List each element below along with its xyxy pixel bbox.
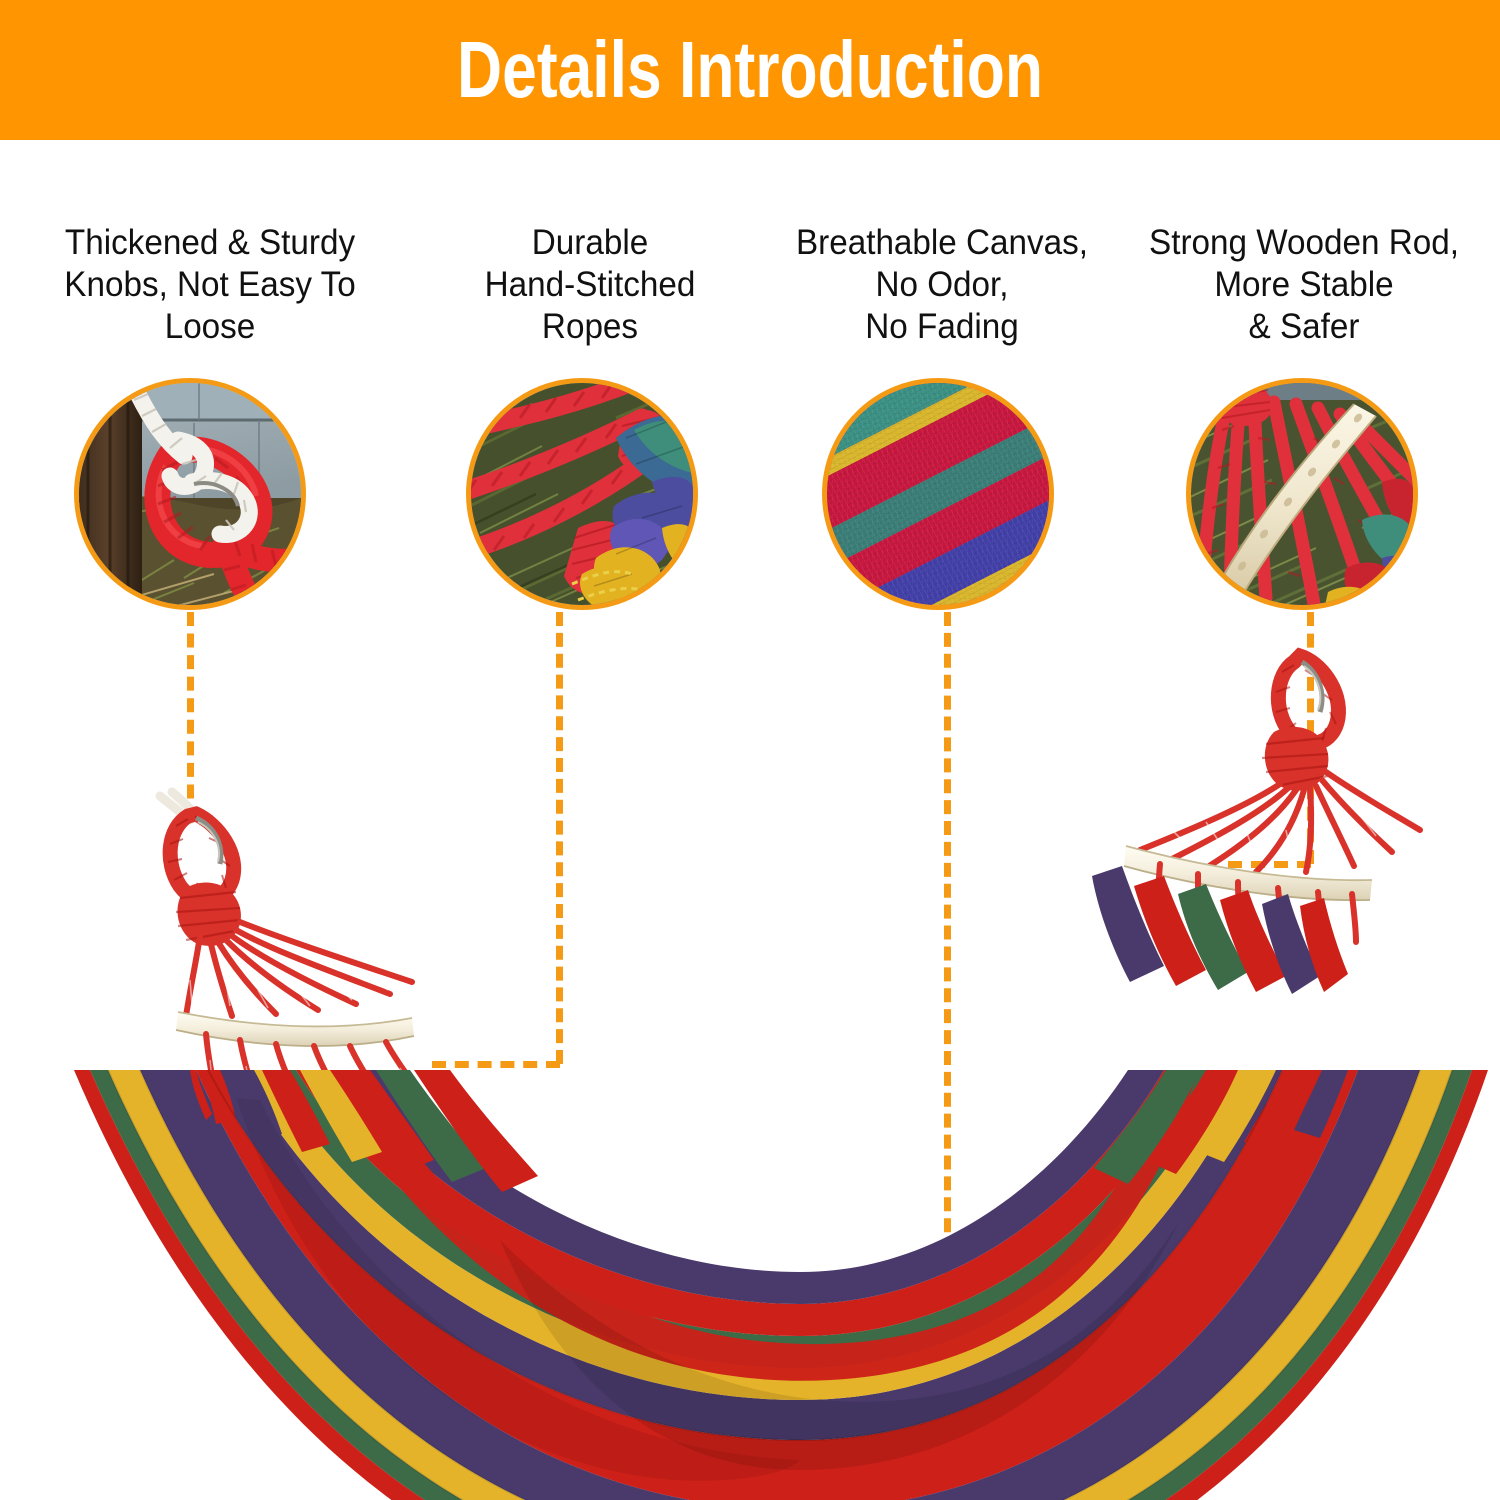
hammock-product-image xyxy=(0,600,1500,1500)
hammock-body xyxy=(74,1070,1488,1500)
infographic-page: Details Introduction Thickened & Sturdy … xyxy=(0,0,1500,1500)
right-rope-fan xyxy=(1140,772,1420,872)
wooden-rod-photo xyxy=(1186,378,1418,610)
page-title: Details Introduction xyxy=(165,0,1335,140)
feature-photo-canvas xyxy=(822,378,1054,610)
feature-caption-ropes: Durable Hand-Stitched Ropes xyxy=(424,222,757,348)
left-spreader-bar xyxy=(176,1012,414,1046)
feature-photo-rod xyxy=(1186,378,1418,610)
hand-stitched-rope-photo xyxy=(466,378,698,610)
canvas-weave-photo xyxy=(822,378,1054,610)
feature-caption-canvas: Breathable Canvas, No Odor, No Fading xyxy=(777,222,1108,348)
feature-caption-rod: Strong Wooden Rod, More Stable & Safer xyxy=(1127,222,1480,348)
right-knot-cluster xyxy=(1262,727,1328,791)
feature-caption-knobs: Thickened & Sturdy Knobs, Not Easy To Lo… xyxy=(30,222,391,348)
feature-photo-knobs xyxy=(74,378,306,610)
rope-knob-photo xyxy=(74,378,306,610)
feature-photo-ropes xyxy=(466,378,698,610)
